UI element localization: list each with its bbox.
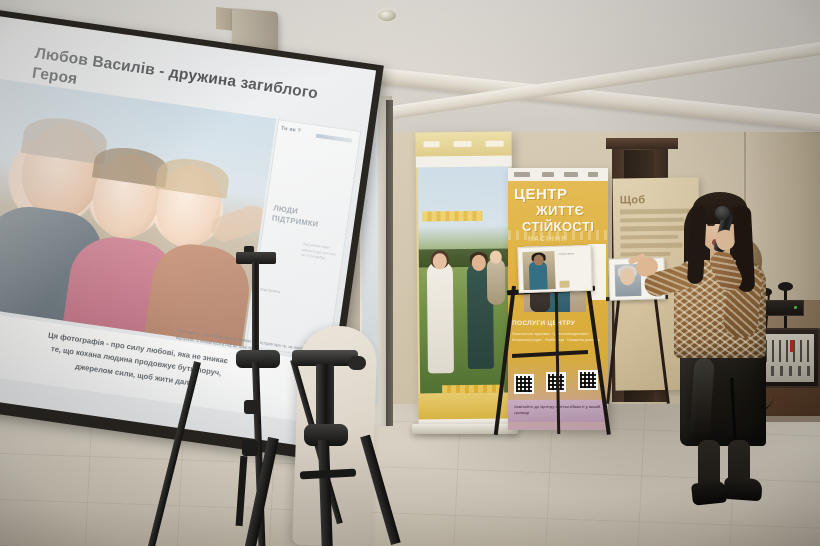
rollup-logo-strip (415, 132, 511, 157)
presentation-hall-photo: Любов Василів - дружина загиблого Героя … (0, 0, 820, 546)
tripod-back-column (252, 262, 259, 356)
banner-child-figure (487, 259, 505, 305)
speaker-boot-left (691, 480, 727, 505)
banner-title-line1: ЦЕНТР (514, 186, 567, 203)
mixer-master-fader[interactable] (790, 340, 794, 352)
banner-child-head (490, 251, 502, 264)
banner-stripe-top (422, 211, 482, 222)
banner-woman-figure (427, 261, 454, 373)
banner-title-line2: ЖИТТЄ (536, 203, 584, 218)
camera-tripod-front (256, 350, 406, 546)
easel-front-poster: Історія героя (517, 245, 593, 294)
speaker-person (640, 182, 780, 502)
tripod-front-leg-3 (360, 435, 400, 545)
qr-code-3[interactable] (578, 370, 598, 390)
banner-woman-head (433, 253, 447, 269)
ceiling-light-icon (378, 10, 396, 21)
tripod-front-leg-2 (318, 440, 333, 546)
door-frame-lintel (606, 138, 678, 149)
tripod-front-column (316, 364, 334, 430)
banner-man-head (472, 255, 486, 271)
poster-badge (559, 281, 569, 288)
rollup-photo-field (418, 167, 512, 394)
tripod-front-brace (300, 469, 356, 480)
tripod-front-knob (348, 356, 366, 370)
slide-side-heading: ЛЮДИ ПІДТРИМКИ (271, 203, 345, 233)
qr-code-1[interactable] (514, 374, 534, 394)
slide-brand-logo: Ти як ? (280, 126, 301, 135)
rollup-base-stand (412, 424, 518, 434)
banner-title-line3: СТІЙКОСТІ (522, 219, 594, 234)
tripod-back-spreader (236, 456, 248, 526)
banner-section-title: ПОСЛУГИ ЦЕНТРУ (512, 320, 575, 327)
mic-stand-head-icon (778, 282, 793, 291)
slide-brand-bar (316, 134, 352, 143)
poster-caption: Історія героя (558, 252, 588, 258)
speaker-boot-right (723, 477, 762, 502)
banner-subtitle: НАСІННЯ (528, 236, 567, 243)
banner-logo-strip (508, 168, 608, 181)
power-led-icon (794, 306, 797, 309)
